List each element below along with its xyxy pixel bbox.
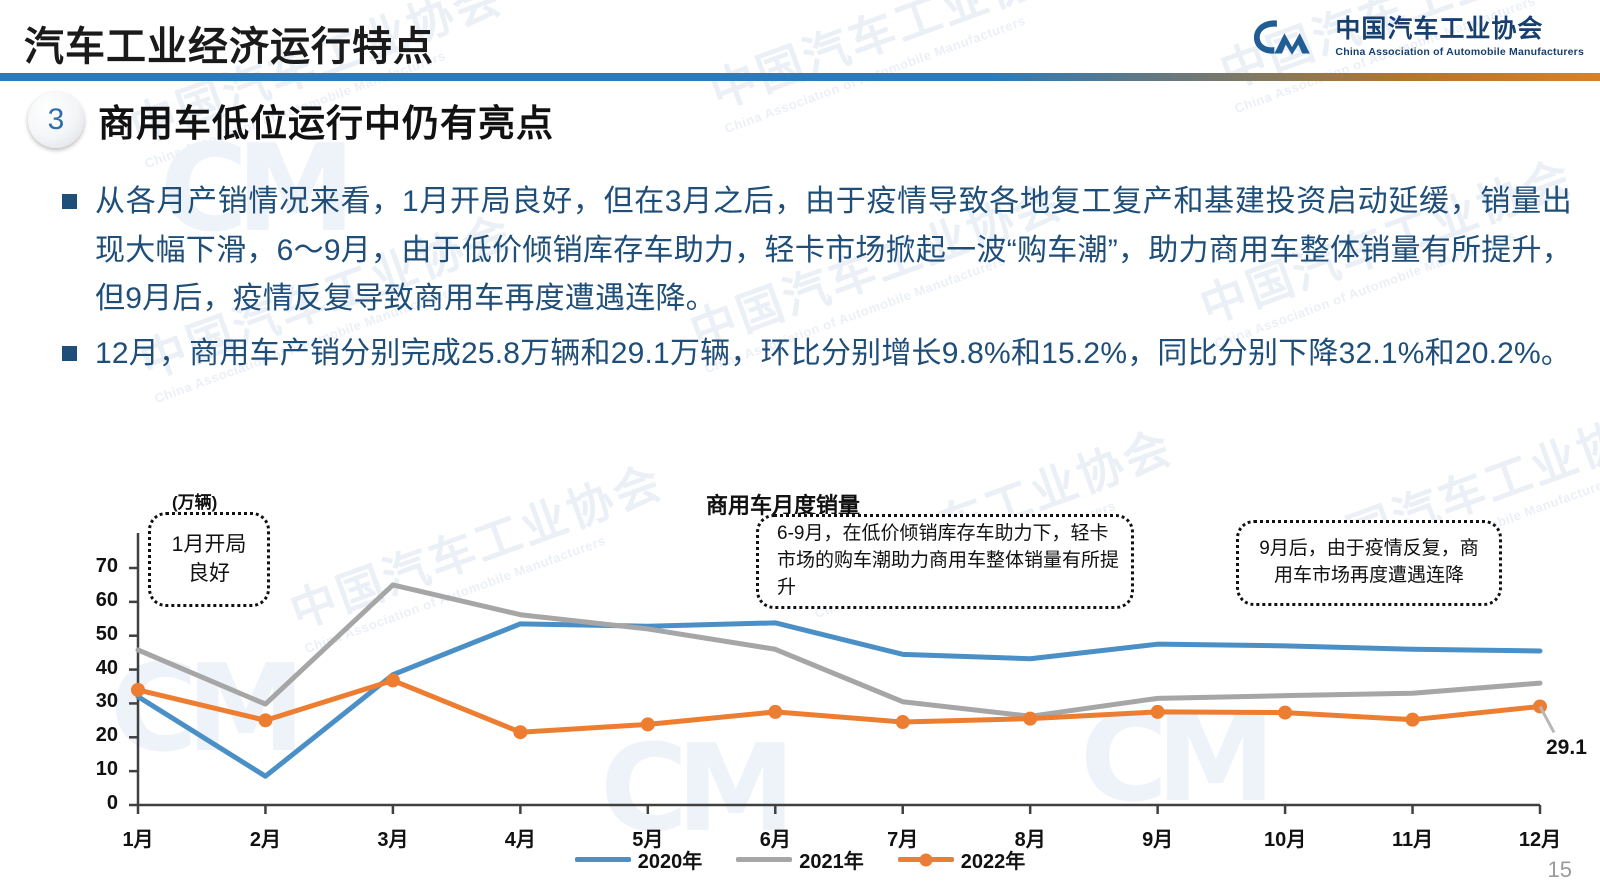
cam-logo-icon	[1249, 14, 1325, 60]
section-number-badge: 3	[28, 92, 84, 148]
header-divider	[0, 73, 1600, 81]
organization-logo: 中国汽车工业协会 China Association of Automobile…	[1249, 14, 1584, 60]
list-item: 12月，商用车产销分别完成25.8万辆和29.1万辆，环比分别增长9.8%和15…	[62, 330, 1572, 379]
y-axis-tick-label: 20	[76, 724, 118, 747]
y-axis-tick-label: 70	[76, 555, 118, 578]
y-axis-tick-label: 30	[76, 690, 118, 713]
bullet-text: 12月，商用车产销分别完成25.8万辆和29.1万辆，环比分别增长9.8%和15…	[95, 330, 1571, 379]
legend-line-swatch	[575, 857, 631, 862]
logo-text-en: China Association of Automobile Manufact…	[1335, 46, 1584, 58]
legend-marker-dot	[919, 853, 932, 866]
bullet-list: 从各月产销情况来看，1月开局良好，但在3月之后，由于疫情导致各地复工复产和基建投…	[62, 178, 1572, 384]
page-title: 汽车工业经济运行特点	[24, 14, 434, 72]
series-end-value-label: 29.1	[1546, 736, 1587, 760]
section-title: 商用车低位运行中仍有亮点	[98, 93, 554, 147]
section-heading: 3 商用车低位运行中仍有亮点	[28, 92, 554, 148]
bullet-square-icon	[62, 194, 77, 209]
legend-item[interactable]: 2022年	[898, 845, 1026, 874]
list-item: 从各月产销情况来看，1月开局良好，但在3月之后，由于疫情导致各地复工复产和基建投…	[62, 178, 1572, 324]
legend-item[interactable]: 2021年	[736, 845, 864, 874]
slide-header: 汽车工业经济运行特点 中国汽车工业协会 China Association of…	[0, 0, 1600, 80]
y-axis-tick-label: 60	[76, 589, 118, 612]
bullet-text: 从各月产销情况来看，1月开局良好，但在3月之后，由于疫情导致各地复工复产和基建投…	[95, 178, 1572, 324]
bullet-square-icon	[62, 346, 77, 361]
legend-label: 2020年	[638, 845, 703, 874]
chart-legend: 2020年2021年2022年	[0, 845, 1600, 874]
y-axis-tick-label: 10	[76, 758, 118, 781]
logo-text-cn: 中国汽车工业协会	[1335, 16, 1584, 42]
legend-label: 2022年	[961, 845, 1026, 874]
monthly-sales-chart: (万辆) 商用车月度销量 1月开局良好 6-9月，在低价倾销库存车助力下，轻卡市…	[0, 470, 1600, 890]
legend-line-swatch	[736, 857, 792, 862]
legend-label: 2021年	[799, 845, 864, 874]
y-axis-tick-label: 0	[76, 792, 118, 815]
y-axis-tick-label: 50	[76, 623, 118, 646]
legend-line-swatch	[898, 857, 954, 862]
legend-item[interactable]: 2020年	[575, 845, 703, 874]
page-number: 15	[1548, 857, 1572, 883]
y-axis-tick-label: 40	[76, 657, 118, 680]
